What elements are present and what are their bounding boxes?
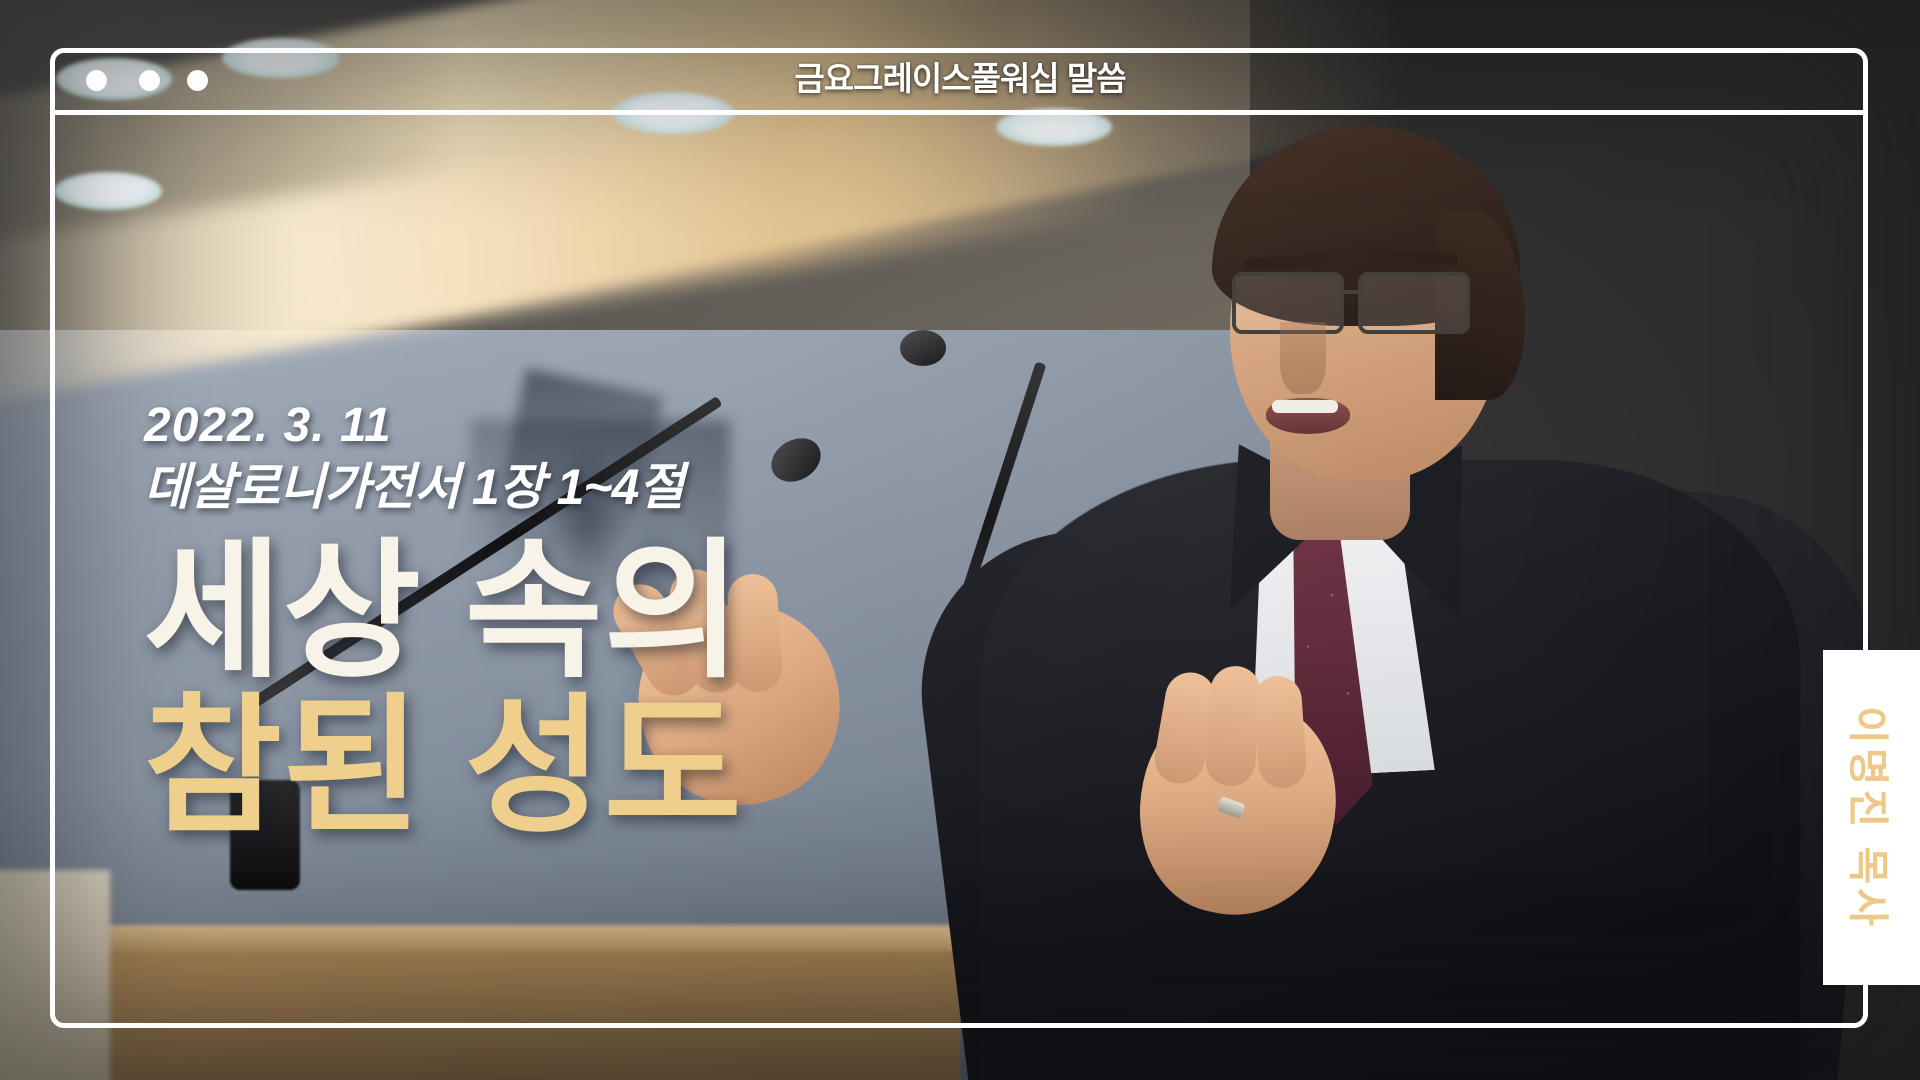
sermon-title-line-1: 세상 속의	[144, 532, 1084, 691]
sermon-thumbnail-stage: 금요그레이스풀워십 말씀 2022. 3. 11 데살로니가전서 1장 1~4절…	[0, 0, 1920, 1080]
sermon-date: 2022. 3. 11	[144, 398, 1084, 455]
window-title: 금요그레이스풀워십 말씀	[0, 52, 1920, 100]
titlebar-divider	[50, 110, 1868, 115]
sermon-title-line-2: 참된 성도	[144, 687, 1084, 846]
caption-block: 2022. 3. 11 데살로니가전서 1장 1~4절 세상 속의 참된 성도	[144, 398, 1084, 846]
scripture-reference: 데살로니가전서 1장 1~4절	[144, 457, 1084, 518]
speaker-name-panel: 이명진 목사	[1823, 650, 1920, 985]
speaker-name: 이명진 목사	[1842, 706, 1902, 930]
